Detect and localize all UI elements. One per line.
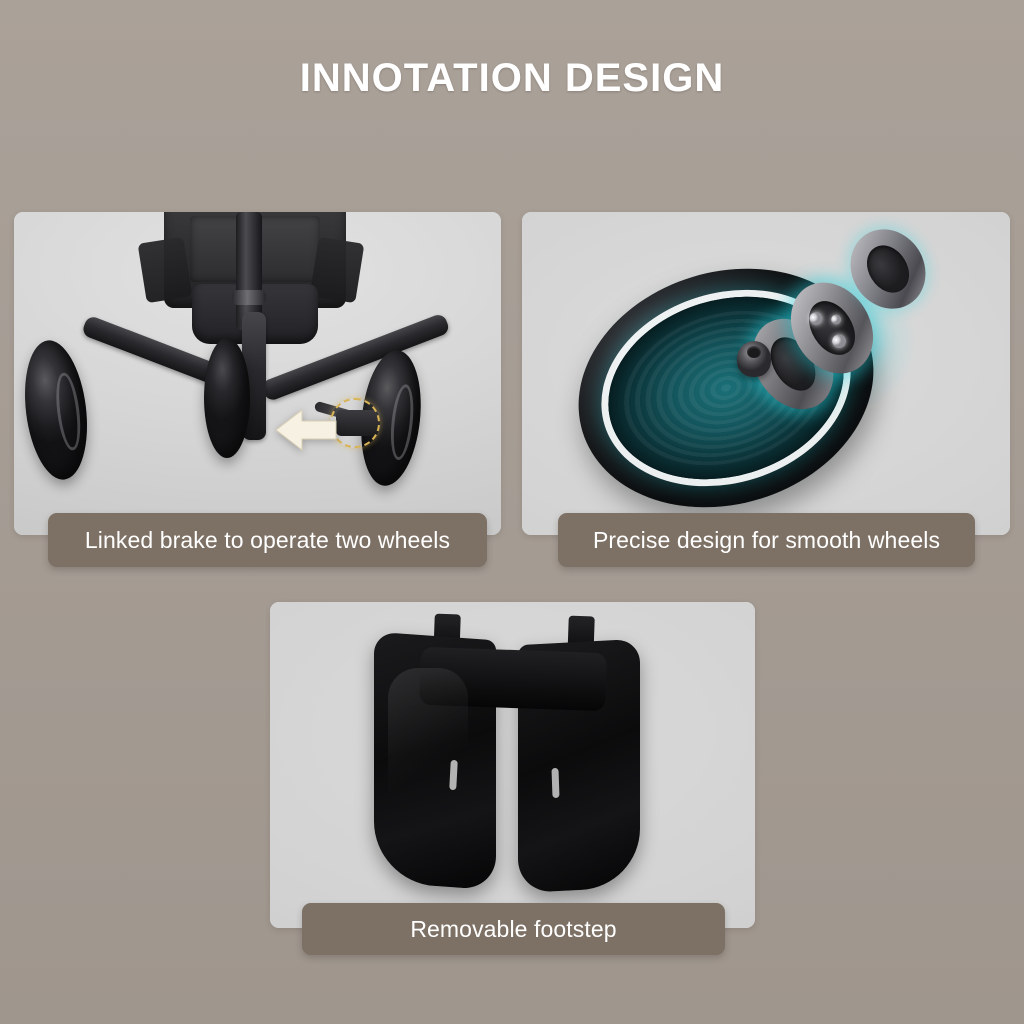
center-wheel xyxy=(204,338,250,458)
left-wheel-rim xyxy=(53,371,84,452)
feature-card-smooth-wheels xyxy=(522,212,1010,535)
caption-linked-brake: Linked brake to operate two wheels xyxy=(48,513,487,567)
infographic-canvas: INNOTATION DESIGN xyxy=(0,0,1024,1024)
right-wheel-rim xyxy=(388,383,417,462)
caption-removable-footstep-text: Removable footstep xyxy=(410,916,616,943)
caption-smooth-wheels-text: Precise design for smooth wheels xyxy=(593,527,940,554)
mast-collar xyxy=(232,290,266,305)
feature-card-removable-footstep xyxy=(270,602,755,928)
wheel-hub xyxy=(737,341,771,377)
page-title: INNOTATION DESIGN xyxy=(0,58,1024,98)
exploded-wheel-image xyxy=(522,212,1010,535)
footstep-crossbar xyxy=(419,647,607,711)
footstep-slot-right xyxy=(551,768,559,798)
caption-linked-brake-text: Linked brake to operate two wheels xyxy=(85,527,450,554)
left-wheel xyxy=(18,337,95,483)
pointer-arrow-icon xyxy=(276,408,338,452)
feature-card-linked-brake xyxy=(14,212,501,535)
caption-smooth-wheels: Precise design for smooth wheels xyxy=(558,513,975,567)
wheel-tyre xyxy=(549,233,904,535)
caption-removable-footstep: Removable footstep xyxy=(302,903,725,955)
footstep-image xyxy=(270,602,755,928)
stroller-chassis-image xyxy=(14,212,501,535)
strap-left xyxy=(138,237,193,303)
